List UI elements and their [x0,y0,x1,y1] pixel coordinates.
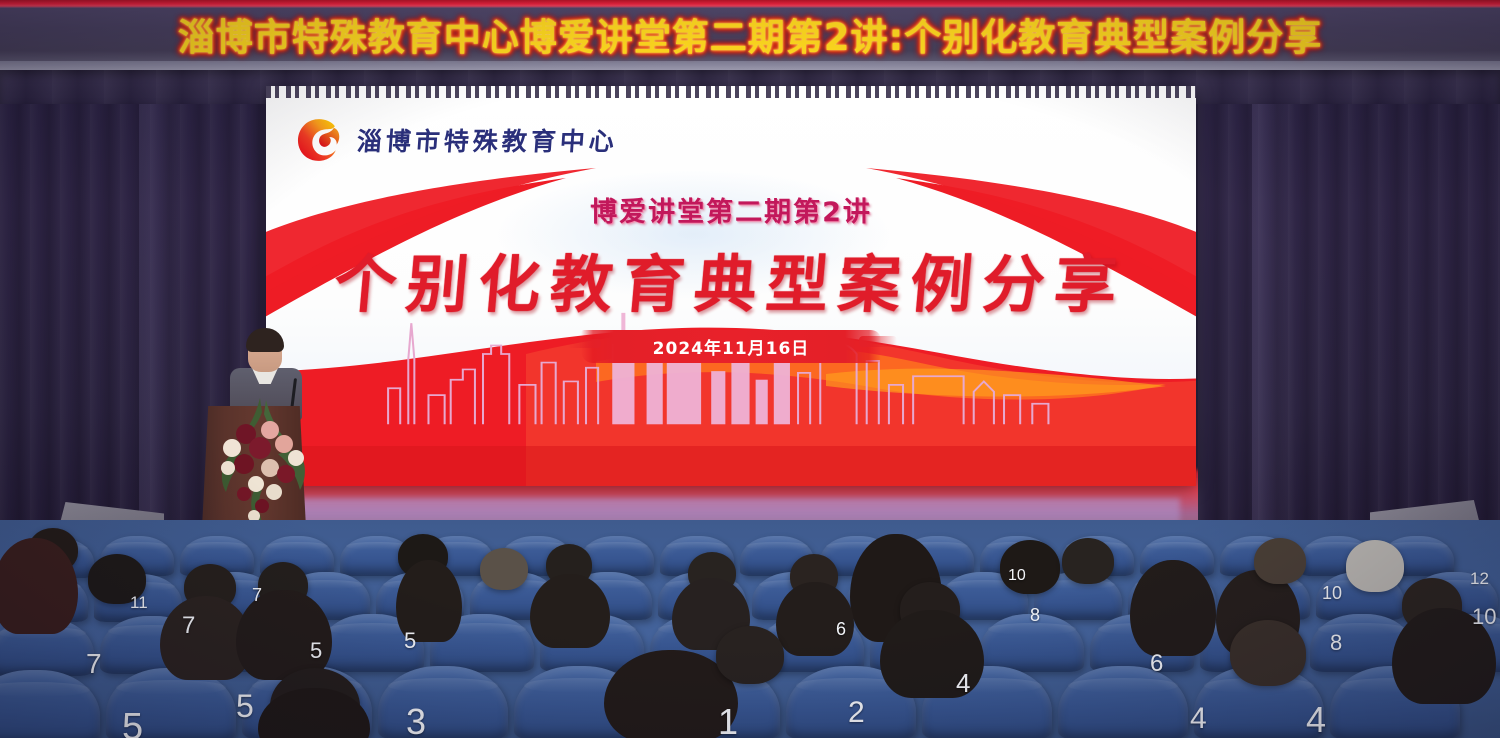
speaker-hair [246,328,284,352]
slide-date-text: 2024年11月16日 [581,330,881,363]
stage-curtain-right [1198,70,1500,520]
led-banner: 淄博市特殊教育中心博爱讲堂第二期第2讲:个别化教育典型案例分享 [0,6,1500,70]
auditorium-photo: 淄博市特殊教育中心博爱讲堂第二期第2讲:个别化教育典型案例分享 [0,0,1500,738]
audience-head [880,610,984,698]
audience-head [1000,540,1060,594]
seat[interactable] [0,670,100,738]
seat[interactable] [378,666,508,738]
podium-and-speaker [196,320,326,530]
seat[interactable] [980,614,1084,672]
audience-head [396,560,462,642]
flower-arrangement [210,394,318,522]
audience-seating-area: 5 7 7 5 5 7 11 3 5 1 2 4 6 4 4 8 10 10 1… [0,520,1500,738]
led-top-red-strip [0,0,1500,8]
audience-head [776,582,854,656]
audience-head [1130,560,1216,656]
audience-head [1062,538,1114,584]
audience-head [530,574,610,648]
seat[interactable] [1058,666,1188,738]
audience-head [1346,540,1404,592]
screen-top-edge [266,86,1196,98]
slide-date-banner: 2024年11月16日 [581,326,881,368]
audience-head [236,590,332,680]
led-banner-text: 淄博市特殊教育中心博爱讲堂第二期第2讲:个别化教育典型案例分享 [0,6,1500,62]
audience-head [1392,608,1496,704]
organization-name: 淄博市特殊教育中心 [356,122,620,158]
audience-head [480,548,528,590]
projection-screen: 淄博市特殊教育中心 博爱讲堂第二期第2讲 个别化教育典型案例分享 2024年11… [266,86,1196,486]
slide-subtitle: 博爱讲堂第二期第2讲 [266,190,1196,229]
audience-head [716,626,784,684]
slide-title: 个别化教育典型案例分享 [266,234,1196,324]
audience-head [1254,538,1306,584]
audience-head [1230,620,1306,686]
spiral-swirl-icon [291,114,347,166]
audience-head [88,554,146,604]
organization-logo-block: 淄博市特殊教育中心 [291,114,618,166]
